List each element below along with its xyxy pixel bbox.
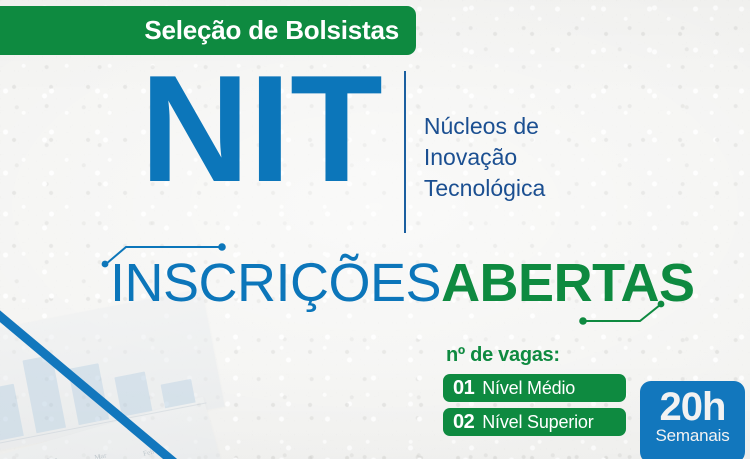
connector-line-green-icon xyxy=(578,300,668,326)
vacancy-count: 01 xyxy=(453,377,474,400)
nit-acronym: NIT xyxy=(140,60,382,200)
vacancy-label: Nível Superior xyxy=(482,412,593,433)
logo-vertical-divider xyxy=(404,71,406,233)
ghost-bar xyxy=(0,383,23,441)
nit-subtitle-line-2: Inovação xyxy=(424,142,545,173)
weekly-hours-badge: 20h Semanais xyxy=(640,381,745,459)
weekly-hours-value: 20h xyxy=(660,388,726,426)
ghost-axis-label: Mar xyxy=(94,451,108,459)
promotional-poster: Jun May Apr Mar Feb Quarterly Sales Dist… xyxy=(0,0,750,459)
connector-line-blue-icon xyxy=(100,243,230,269)
vacancy-label: Nível Médio xyxy=(482,378,575,399)
nit-subtitle-line-3: Tecnológica xyxy=(424,173,545,204)
nit-subtitle-line-1: Núcleos de xyxy=(424,111,545,142)
weekly-hours-unit: Semanais xyxy=(656,427,730,446)
vacancy-pill-superior: 02 Nível Superior xyxy=(443,408,626,436)
vacancy-count: 02 xyxy=(453,411,474,434)
nit-logo-lockup: NIT Núcleos de Inovação Tecnológica xyxy=(140,66,545,233)
selection-banner-title: Seleção de Bolsistas xyxy=(144,15,399,46)
nit-subtitle: Núcleos de Inovação Tecnológica xyxy=(424,111,545,204)
vacancy-pill-medio: 01 Nível Médio xyxy=(443,374,626,402)
vacancies-heading: nº de vagas: xyxy=(443,344,626,367)
vacancies-block: nº de vagas: 01 Nível Médio 02 Nível Sup… xyxy=(443,344,626,442)
ghost-bar xyxy=(115,371,153,417)
